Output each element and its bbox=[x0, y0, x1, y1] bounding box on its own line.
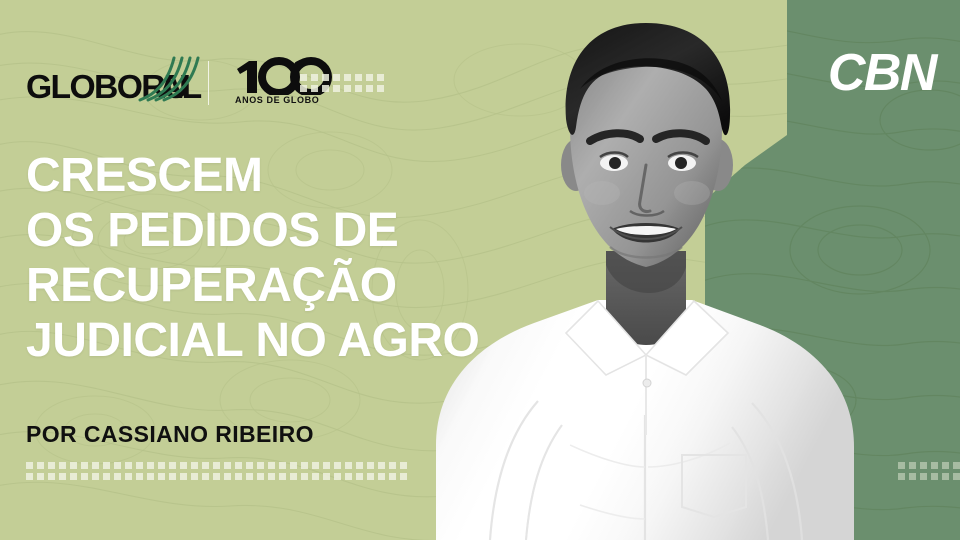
logo-divider bbox=[208, 61, 209, 105]
dot-grid-right bbox=[898, 462, 960, 480]
byline: POR CASSIANO RIBEIRO bbox=[26, 421, 314, 448]
headline-line-3: RECUPERAÇÃO bbox=[26, 258, 479, 313]
thumbnail-canvas: GLOBORU AL ANOS DE GLOBO bbox=[0, 0, 960, 540]
centenary-subtitle: ANOS DE GLOBO bbox=[235, 95, 319, 105]
headline-line-2: OS PEDIDOS DE bbox=[26, 203, 479, 258]
road-lines-icon bbox=[138, 56, 200, 102]
dot-grid-bottom bbox=[26, 462, 407, 480]
headline-line-4: JUDICIAL NO AGRO bbox=[26, 313, 479, 368]
dot-grid-top bbox=[300, 74, 384, 92]
host-portrait-image bbox=[430, 15, 860, 540]
globo-rural-logo[interactable]: GLOBORU AL bbox=[26, 59, 194, 107]
brand-logo-bar: GLOBORU AL ANOS DE GLOBO bbox=[26, 58, 347, 108]
headline-line-1: CRESCEM bbox=[26, 148, 479, 203]
headline: CRESCEM OS PEDIDOS DE RECUPERAÇÃO JUDICI… bbox=[26, 148, 479, 368]
